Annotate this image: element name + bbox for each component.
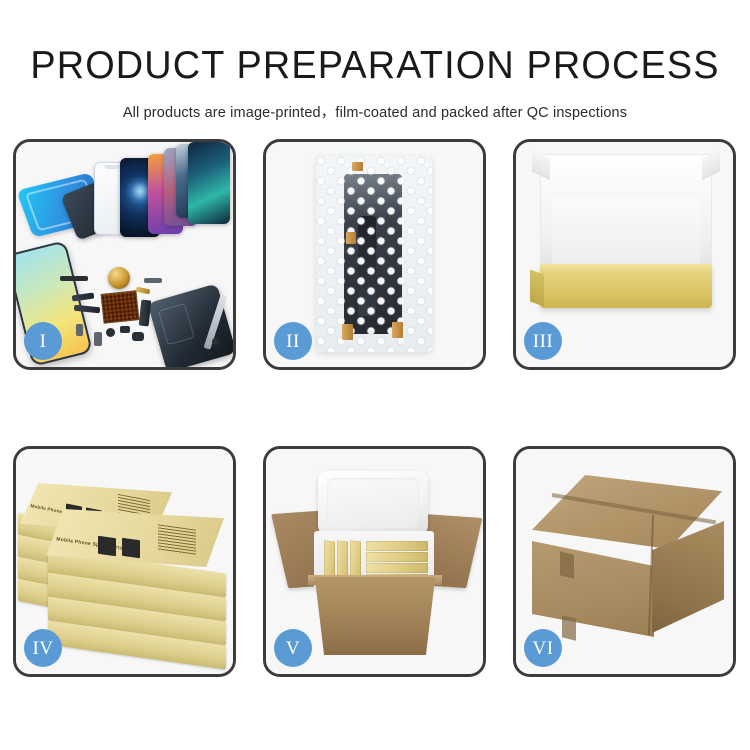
part-strip-1 [60, 276, 88, 281]
part-strip-2 [144, 278, 162, 283]
white-foam-sheet [552, 198, 700, 268]
shipping-carton-body [308, 577, 442, 655]
process-step-panel-6[interactable]: VI [513, 446, 736, 677]
packed-box-6 [366, 563, 428, 573]
camera-module [132, 332, 144, 341]
step-badge-1: I [24, 322, 62, 360]
box-label-image-front-2 [122, 538, 140, 559]
small-part-round [106, 328, 115, 337]
screw-part [212, 338, 219, 345]
process-steps-grid: I II [13, 139, 737, 677]
carton-tape-lower [562, 615, 576, 640]
step-badge-3: III [524, 322, 562, 360]
speaker-component [108, 267, 130, 289]
process-step-panel-1[interactable]: I [13, 139, 236, 370]
packed-box-4 [366, 541, 428, 551]
tape-top [352, 162, 363, 171]
header: PRODUCT PREPARATION PROCESS All products… [0, 0, 750, 122]
process-step-panel-3[interactable]: III [513, 139, 736, 370]
process-step-panel-2[interactable]: II [263, 139, 486, 370]
small-part-square [120, 326, 130, 333]
packed-box-5 [366, 552, 428, 562]
carton-front-face [532, 541, 654, 637]
carton-tape-upper [560, 551, 574, 578]
box-label-image-front-1 [98, 536, 116, 557]
box-label-lines-front [158, 524, 196, 555]
box-left-side [530, 269, 544, 306]
foam-box-lid [318, 471, 428, 535]
tape-bottom-right [392, 322, 403, 338]
copper-shield-component [101, 290, 140, 324]
process-step-panel-5[interactable]: V [263, 446, 486, 677]
page-subtitle: All products are image-printed，film-coat… [0, 101, 750, 122]
step-badge-5: V [274, 629, 312, 667]
tape-bottom-left [342, 324, 353, 340]
step-badge-2: II [274, 322, 312, 360]
phone-screen-teal [188, 142, 230, 224]
flex-cable-3 [139, 300, 152, 327]
product-preparation-infographic: PRODUCT PREPARATION PROCESS All products… [0, 0, 750, 750]
process-step-panel-4[interactable]: Mobile Phone Spare Parts Mobile Phone Sp… [13, 446, 236, 677]
step-badge-6: VI [524, 629, 562, 667]
step-badge-4: IV [24, 629, 62, 667]
sim-tray [76, 324, 83, 336]
part-gold-bracket [136, 287, 151, 295]
page-title: PRODUCT PREPARATION PROCESS [11, 46, 739, 85]
bubble-texture [316, 156, 432, 352]
bubble-wrap-bag [316, 156, 432, 352]
tape-mid [346, 232, 356, 244]
box-front-lip [540, 264, 712, 274]
small-part-chip [94, 332, 102, 346]
